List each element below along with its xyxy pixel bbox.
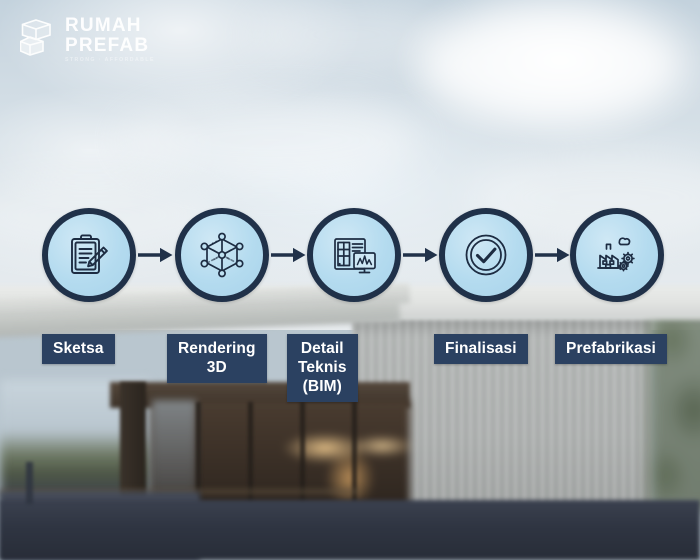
process-flow-diagram: Sketsa (0, 0, 700, 560)
blueprint-monitor-icon (327, 228, 381, 282)
factory-gears-icon (590, 228, 644, 282)
step-2-circle[interactable] (175, 208, 269, 302)
step-5-label[interactable]: Prefabrikasi (555, 334, 667, 364)
step-4-label[interactable]: Finalisasi (434, 334, 528, 364)
step-1-label[interactable]: Sketsa (42, 334, 115, 364)
step-3-label[interactable]: Detail Teknis (BIM) (287, 334, 358, 402)
arrow-right-icon (535, 245, 571, 270)
wireframe-cube-icon (195, 228, 249, 282)
check-circle-icon (459, 228, 513, 282)
arrow-right-icon (271, 245, 307, 270)
step-2-label[interactable]: Rendering 3D (167, 334, 267, 383)
arrow-right-icon (138, 245, 174, 270)
step-5-circle[interactable] (570, 208, 664, 302)
arrow-right-icon (403, 245, 439, 270)
step-1-circle[interactable] (42, 208, 136, 302)
step-3-circle[interactable] (307, 208, 401, 302)
clipboard-pencil-icon (63, 229, 115, 281)
step-4-circle[interactable] (439, 208, 533, 302)
